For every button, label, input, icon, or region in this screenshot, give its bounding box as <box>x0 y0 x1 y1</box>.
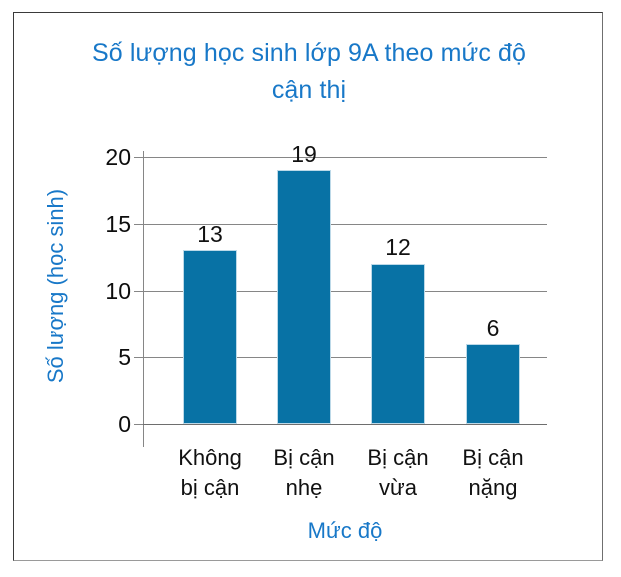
x-tick-label-bi-can-nang-line-2: nặng <box>439 473 547 503</box>
y-tick-label-5: 5 <box>71 346 131 369</box>
y-axis-title: Số lượng (học sinh) <box>43 166 69 406</box>
y-axis-tick-labels: 20 15 10 5 0 <box>69 157 131 424</box>
chart-title-line-1: Số lượng học sinh lớp 9A theo mức độ <box>54 35 564 72</box>
y-tick-label-15: 15 <box>71 213 131 236</box>
x-tick-label-bi-can-nhe-line-2: nhẹ <box>250 473 358 503</box>
chart-title-line-2: cận thị <box>54 72 564 109</box>
x-tick-label-khong-bi-can: Không bị cận <box>156 443 264 503</box>
gridline-20 <box>143 157 547 158</box>
chart-frame: Số lượng học sinh lớp 9A theo mức độ cận… <box>13 12 603 561</box>
x-tick-label-bi-can-nhe: Bị cận nhẹ <box>250 443 358 503</box>
gridline-0-baseline <box>143 424 547 425</box>
x-tick-label-bi-can-vua-line-1: Bị cận <box>344 443 452 473</box>
bar-value-khong-bi-can: 13 <box>170 223 250 246</box>
y-tickmark-10 <box>134 291 143 292</box>
x-tick-label-khong-bi-can-line-2: bị cận <box>156 473 264 503</box>
bar-value-bi-can-nhe: 19 <box>264 143 344 166</box>
x-axis-title: Mức độ <box>143 518 547 544</box>
bar-bi-can-nang[interactable] <box>466 344 520 424</box>
y-tickmark-20 <box>134 157 143 158</box>
x-tick-label-bi-can-nang-line-1: Bị cận <box>439 443 547 473</box>
bar-value-bi-can-vua: 12 <box>358 236 438 259</box>
bar-bi-can-nhe[interactable] <box>277 170 331 424</box>
bar-bi-can-vua[interactable] <box>371 264 425 424</box>
bar-value-bi-can-nang: 6 <box>453 317 533 340</box>
y-tickmark-0 <box>134 424 143 425</box>
x-tick-label-bi-can-vua-line-2: vừa <box>344 473 452 503</box>
x-tick-label-bi-can-vua: Bị cận vừa <box>344 443 452 503</box>
x-tick-label-bi-can-nhe-line-1: Bị cận <box>250 443 358 473</box>
y-tickmark-5 <box>134 357 143 358</box>
x-tick-label-khong-bi-can-line-1: Không <box>156 443 264 473</box>
plot-area: 13 19 12 6 <box>143 157 547 424</box>
bar-khong-bi-can[interactable] <box>183 250 237 424</box>
chart-title: Số lượng học sinh lớp 9A theo mức độ cận… <box>54 35 564 109</box>
y-tick-label-0: 0 <box>71 413 131 436</box>
y-tick-label-20: 20 <box>71 146 131 169</box>
y-tickmark-15 <box>134 224 143 225</box>
x-tick-label-bi-can-nang: Bị cận nặng <box>439 443 547 503</box>
y-tick-label-10: 10 <box>71 280 131 303</box>
